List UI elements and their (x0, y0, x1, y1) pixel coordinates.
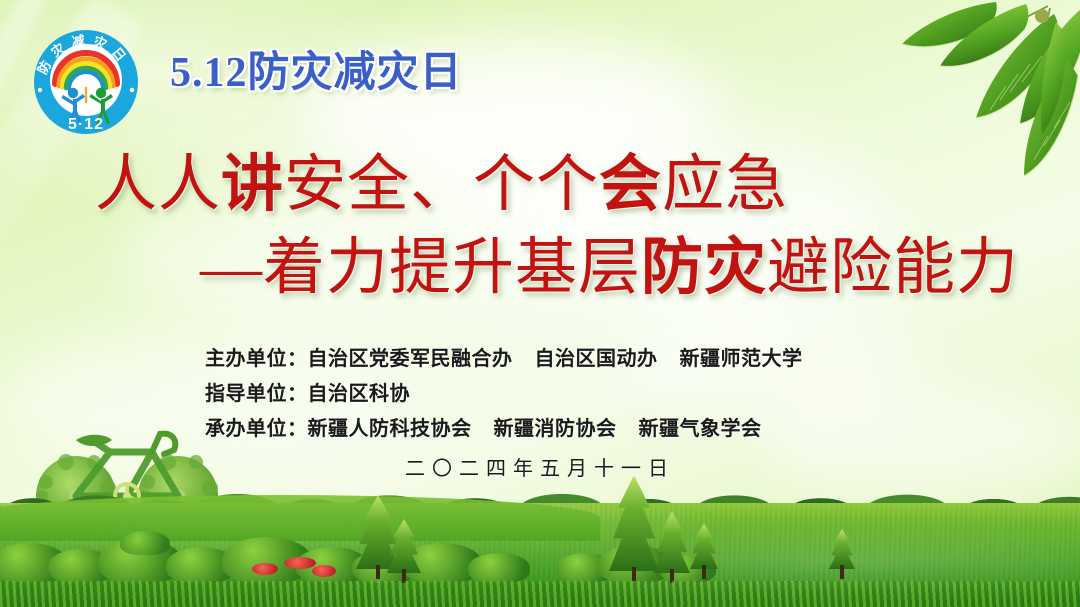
slogan-text-segment: 避险能力 (767, 234, 1019, 302)
organizer-item: 自治区党委军民融合办 (308, 348, 513, 370)
logo-date-text: 5·12 (68, 116, 104, 133)
organizer-item: 自治区国动办 (535, 348, 658, 370)
slogan-text-segment: 应急 (662, 151, 788, 219)
header-title: 5.12防灾减灾日 (170, 38, 463, 99)
disaster-prevention-day-logo: 防灾减灾日 5·12 (23, 14, 149, 154)
organizer-label: 主办单位： (205, 348, 308, 370)
grass-landscape-scene (0, 477, 1080, 607)
red-flower-cluster (252, 563, 278, 575)
slogan-highlight-hui: 会 (599, 151, 662, 219)
red-flower-cluster (284, 557, 316, 569)
organizer-label: 指导单位： (205, 383, 308, 405)
slogan-line-2: —着力提升基层防灾避险能力 (0, 235, 1080, 302)
organizer-item: 新疆师范大学 (680, 348, 803, 370)
organizer-item: 自治区科协 (308, 383, 411, 405)
slogan-text-segment: —着力提升基层 (200, 234, 641, 302)
organizer-item: 新疆气象学会 (639, 418, 762, 440)
slogan-text-segment: 安全、个个 (284, 151, 599, 219)
slogan-text-segment: 人人 (95, 151, 221, 219)
slogan-block: 人人讲安全、个个会应急 —着力提升基层防灾避险能力 (0, 152, 1080, 302)
slogan-highlight-jiang: 讲 (221, 151, 284, 219)
foreground-grass (0, 581, 1080, 607)
organizer-row-host: 主办单位：自治区党委军民融合办自治区国动办新疆师范大学 (205, 349, 965, 369)
slogan-line-1: 人人讲安全、个个会应急 (0, 152, 1080, 219)
organizer-item: 新疆消防协会 (494, 418, 617, 440)
poster-canvas: 防灾减灾日 5·12 5.12防灾减灾日 人人讲安全、个个会应急 —着力提升基层… (0, 0, 1080, 607)
organizer-item: 新疆人防科技协会 (308, 418, 472, 440)
red-flower-cluster (312, 565, 336, 577)
organizer-row-guide: 指导单位：自治区科协 (205, 384, 965, 404)
organizer-row-undertaker: 承办单位：新疆人防科技协会新疆消防协会新疆气象学会 (205, 419, 965, 439)
slogan-highlight-fangzai: 防灾 (641, 234, 767, 302)
bush-row (0, 523, 1080, 583)
organizer-block: 主办单位：自治区党委军民融合办自治区国动办新疆师范大学 指导单位：自治区科协 承… (205, 349, 965, 454)
